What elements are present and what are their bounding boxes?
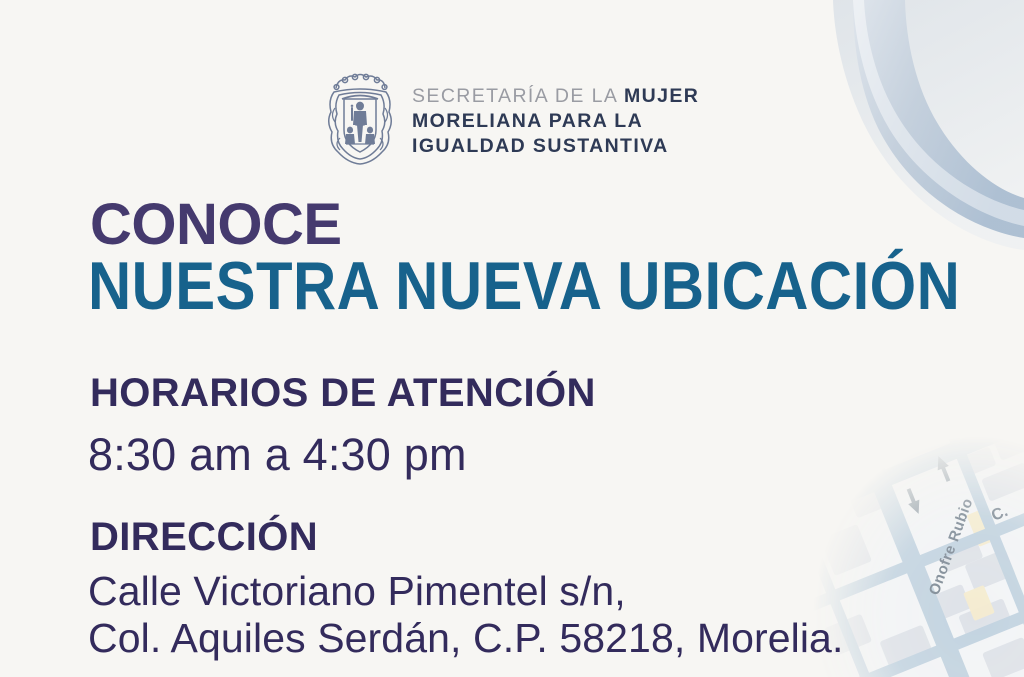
- hours-value: 8:30 am a 4:30 pm: [88, 432, 467, 477]
- logo-line-1: SECRETARÍA DE LA MUJER: [412, 84, 699, 109]
- institutional-logo: SECRETARÍA DE LA MUJER MORELIANA PARA LA…: [322, 68, 699, 168]
- address-label: DIRECCIÓN: [90, 517, 318, 557]
- address-line-2: Col. Aquiles Serdán, C.P. 58218, Morelia…: [88, 618, 843, 659]
- logo-line-1-bold: MUJER: [624, 85, 699, 107]
- headline-line-1: CONOCE: [90, 196, 342, 254]
- address-line-1: Calle Victoriano Pimentel s/n,: [88, 571, 626, 612]
- logo-wordmark: SECRETARÍA DE LA MUJER MORELIANA PARA LA…: [412, 78, 699, 159]
- logo-line-1-light: SECRETARÍA DE LA: [412, 85, 624, 107]
- logo-line-3: IGUALDAD SUSTANTIVA: [412, 134, 699, 159]
- logo-line-2: MORELIANA PARA LA: [412, 109, 699, 134]
- headline-line-2: NUESTRA NUEVA UBICACIÓN: [88, 252, 960, 320]
- morelia-coat-of-arms-icon: [322, 68, 398, 168]
- hours-label: HORARIOS DE ATENCIÓN: [90, 373, 596, 413]
